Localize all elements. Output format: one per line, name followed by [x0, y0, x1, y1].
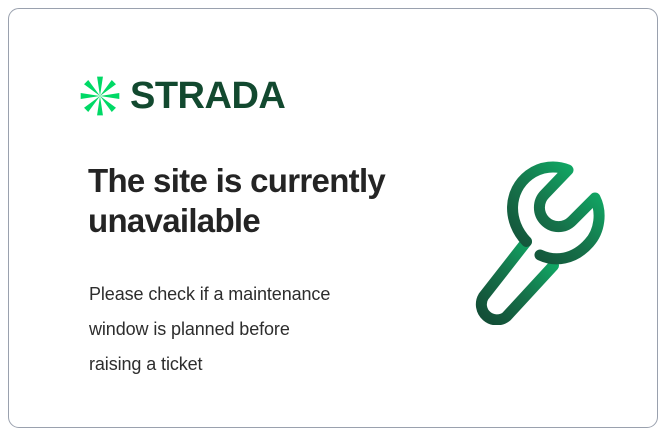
content-card: STRADA The site is currently unavailable… — [8, 8, 658, 428]
brand-logo: STRADA — [79, 75, 285, 117]
page-description: Please check if a maintenance window is … — [89, 277, 399, 382]
wrench-icon — [461, 155, 621, 325]
brand-wordmark: STRADA — [130, 77, 285, 115]
page-title: The site is currently unavailable — [88, 161, 418, 241]
maintenance-page: STRADA The site is currently unavailable… — [0, 0, 666, 436]
description-line: window is planned before — [89, 312, 399, 347]
description-line: Please check if a maintenance — [89, 277, 399, 312]
description-line: raising a ticket — [89, 347, 399, 382]
strada-asterisk-icon — [79, 75, 121, 117]
